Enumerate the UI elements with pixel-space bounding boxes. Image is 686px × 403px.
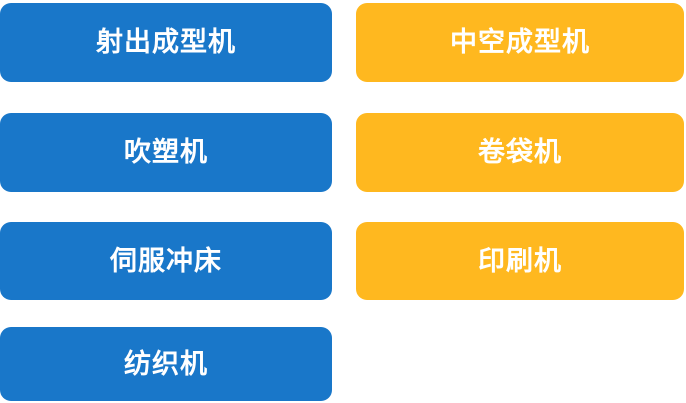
category-button-bag-rolling-machine[interactable]: 卷袋机: [356, 113, 684, 192]
category-button-servo-punch-press[interactable]: 伺服冲床: [0, 222, 332, 300]
category-button-label: 吹塑机: [124, 139, 208, 166]
category-button-label: 射出成型机: [96, 29, 236, 56]
category-button-injection-molding-machine[interactable]: 射出成型机: [0, 3, 332, 82]
category-button-label: 纺织机: [124, 351, 208, 378]
category-button-plastic-blowing-machine[interactable]: 吹塑机: [0, 113, 332, 192]
category-button-label: 伺服冲床: [110, 248, 222, 275]
category-button-label: 中空成型机: [450, 29, 590, 56]
category-button-printing-machine[interactable]: 印刷机: [356, 222, 684, 300]
category-button-blow-molding-machine[interactable]: 中空成型机: [356, 3, 684, 82]
button-grid-board: 射出成型机 中空成型机 吹塑机 卷袋机 伺服冲床 印刷机 纺织机: [0, 0, 686, 403]
category-button-label: 卷袋机: [478, 139, 562, 166]
category-button-textile-machine[interactable]: 纺织机: [0, 327, 332, 401]
category-button-label: 印刷机: [478, 248, 562, 275]
